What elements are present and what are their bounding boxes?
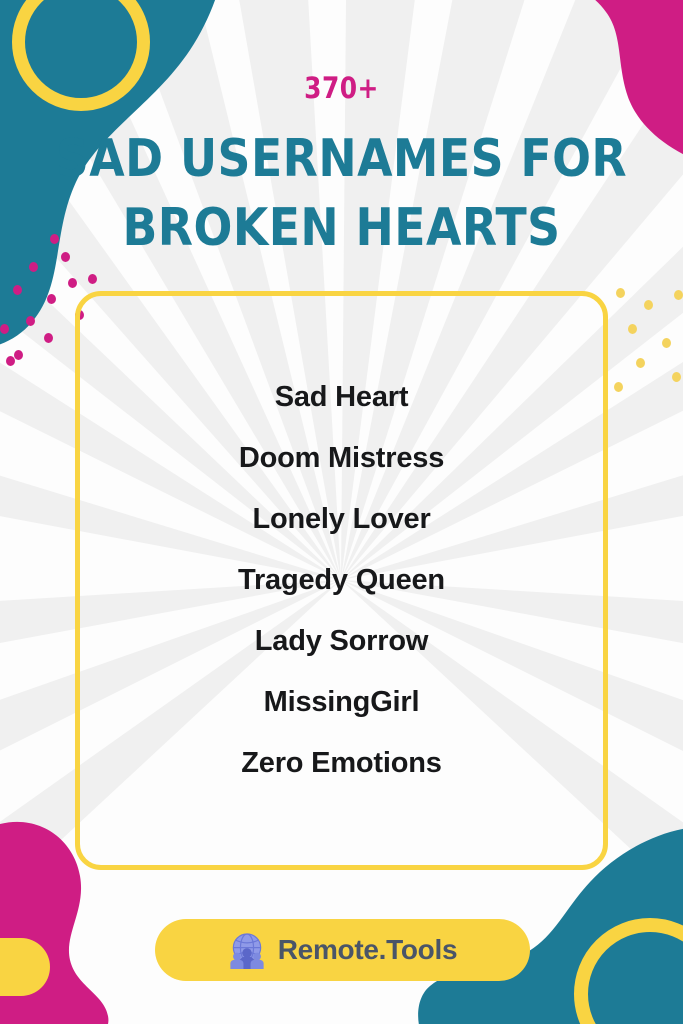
list-item: Tragedy Queen [96,550,587,611]
brand-footer-button[interactable]: Remote.Tools [155,919,530,981]
list-item: MissingGirl [96,672,587,733]
list-item: Zero Emotions [96,733,587,794]
list-item: Doom Mistress [96,428,587,489]
list-item: Lonely Lover [96,489,587,550]
list-item: Sad Heart [96,367,587,428]
poster-canvas: 370+ SAD USERNAMES FOR BROKEN HEARTS Sad… [0,0,683,1024]
brand-label: Remote.Tools [278,936,457,964]
page-title: SAD USERNAMES FOR BROKEN HEARTS [41,125,642,262]
page-title-line-2: BROKEN HEARTS [41,194,642,263]
count-badge: 370+ [48,74,635,103]
page-title-line-1: SAD USERNAMES FOR [41,125,642,194]
globe-people-icon [228,931,266,969]
poster-header: 370+ SAD USERNAMES FOR BROKEN HEARTS [0,74,683,262]
list-item: Lady Sorrow [96,611,587,672]
username-list-card: Sad Heart Doom Mistress Lonely Lover Tra… [75,291,608,870]
